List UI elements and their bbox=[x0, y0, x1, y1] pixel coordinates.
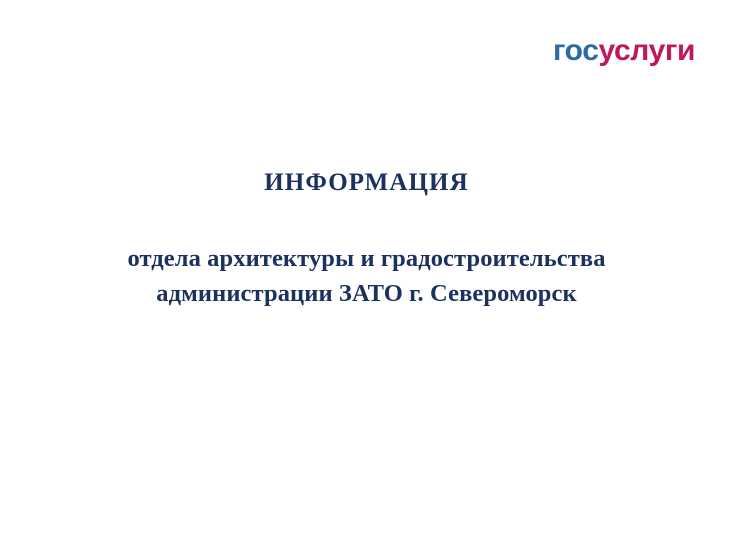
gosuslugi-logo: госуслуги bbox=[553, 36, 695, 66]
slide-text-block: ИНФОРМАЦИЯ отдела архитектуры и градостр… bbox=[0, 168, 733, 312]
page-subtitle-line-1: отдела архитектуры и градостроительства bbox=[40, 242, 693, 277]
gosuslugi-logo-text-blue: гос bbox=[553, 36, 599, 66]
page-subtitle: отдела архитектуры и градостроительства … bbox=[40, 198, 693, 312]
slide-canvas: госуслуги ИНФОРМАЦИЯ отдела архитектуры … bbox=[0, 0, 733, 550]
gosuslugi-logo-text-red: услуги bbox=[598, 36, 695, 66]
page-title: ИНФОРМАЦИЯ bbox=[40, 168, 693, 198]
page-subtitle-line-2: администрации ЗАТО г. Североморск bbox=[40, 277, 693, 312]
